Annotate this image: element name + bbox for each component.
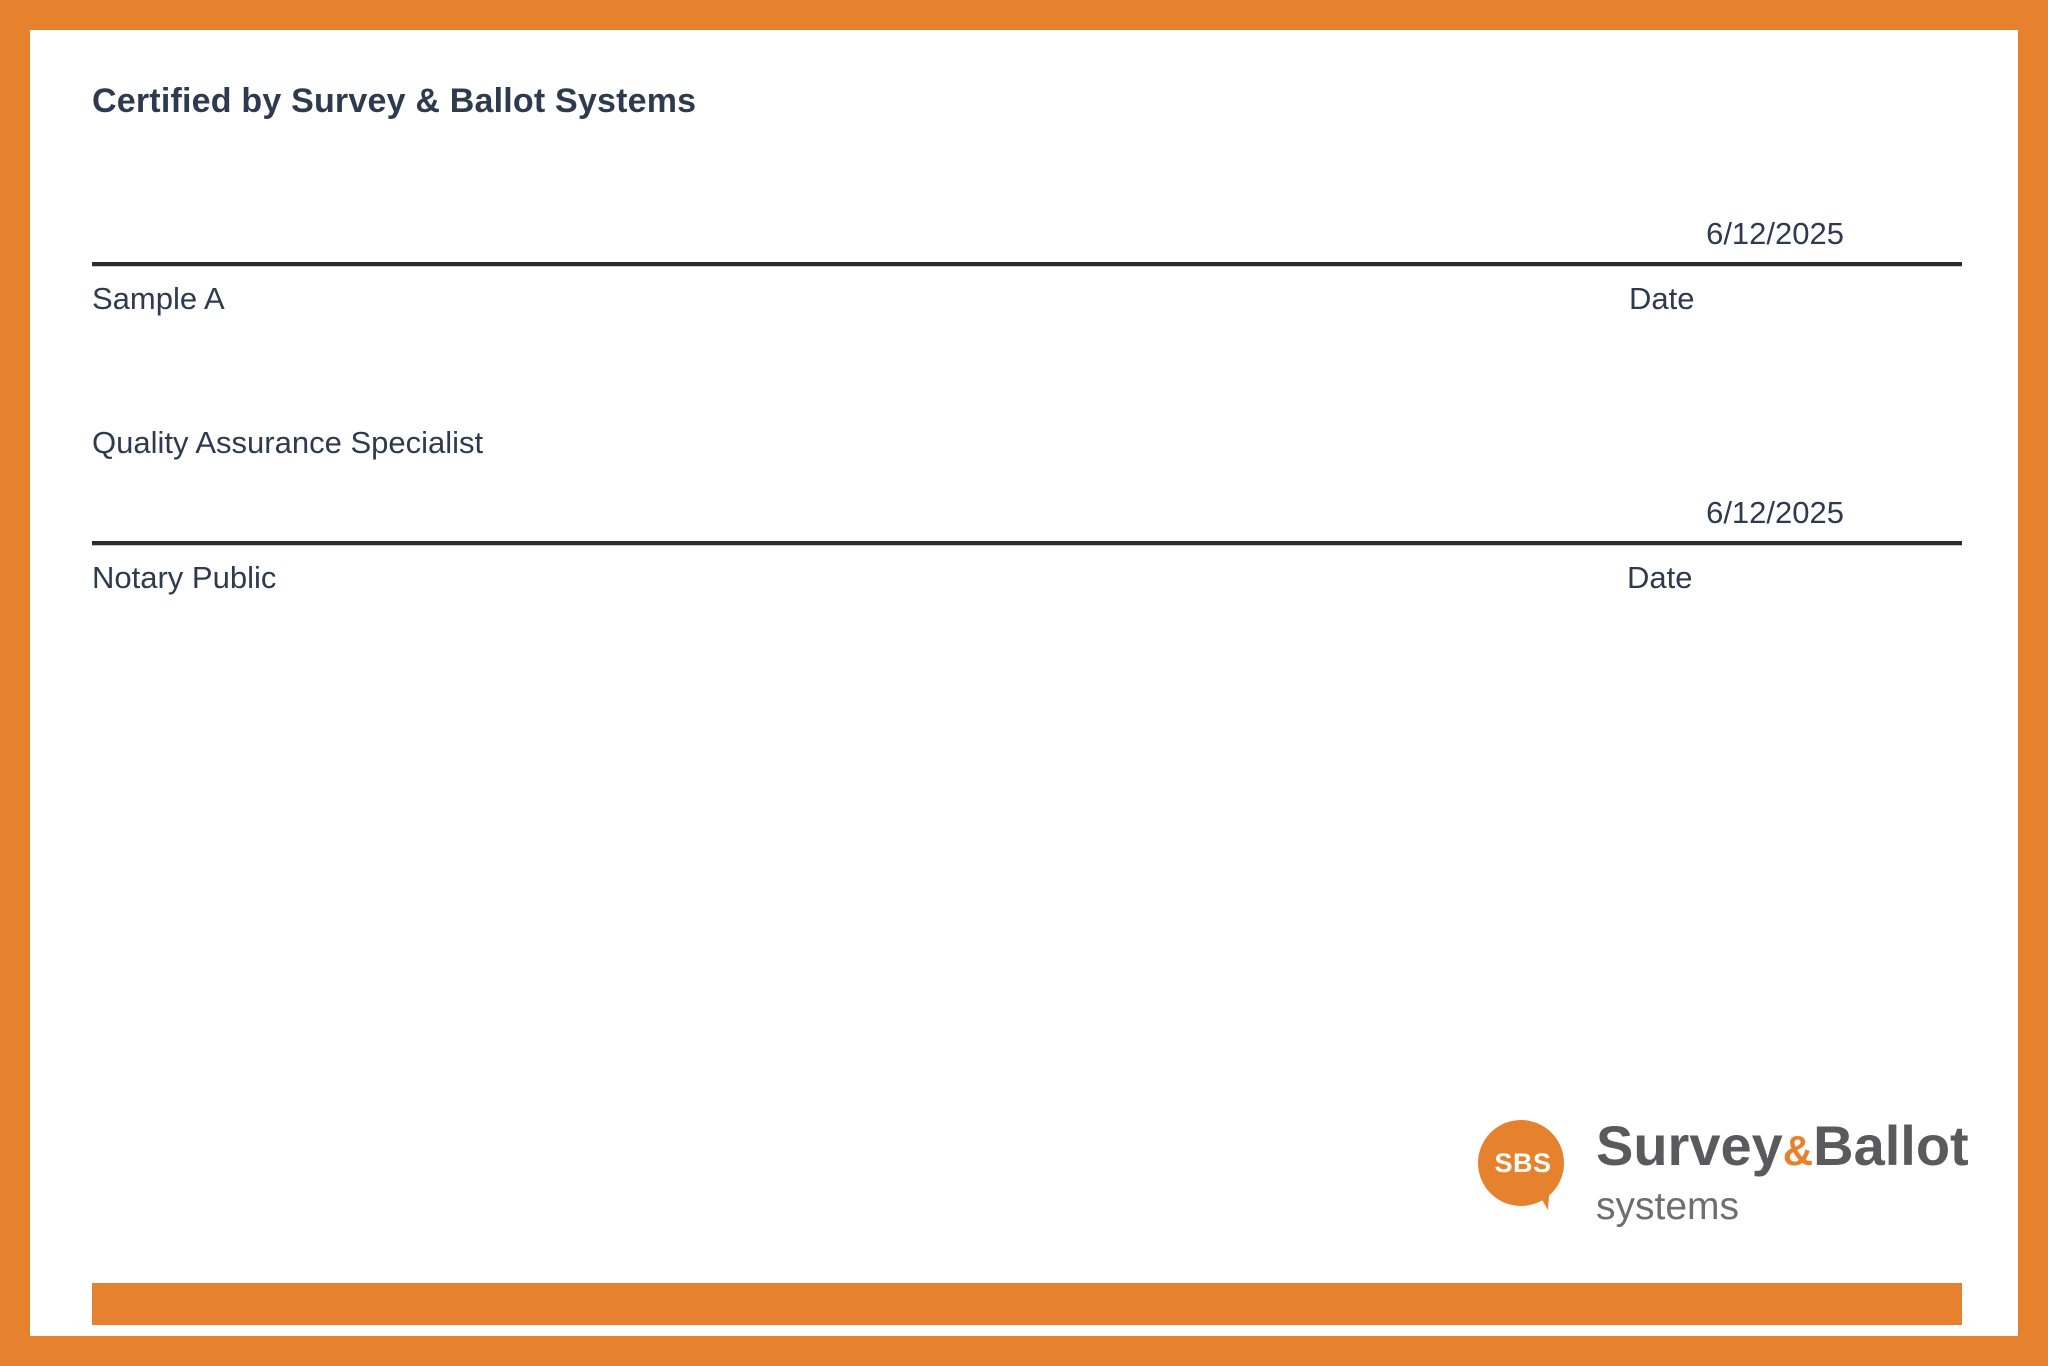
signer-title: Quality Assurance Specialist xyxy=(92,425,483,461)
signature-label-row: Sample A Date Quality Assurance Speciali… xyxy=(92,281,1962,339)
logo-wordmark-line1: Survey&Ballot xyxy=(1596,1116,1969,1181)
date-label: Date xyxy=(1627,560,1692,596)
logo-word-ampersand: & xyxy=(1783,1127,1813,1174)
signature-date-row: 6/12/2025 xyxy=(92,206,1962,262)
logo-wordmark-line2: systems xyxy=(1596,1183,1969,1231)
signature-label-row: Notary Public Date xyxy=(92,560,1962,618)
signer-name: Sample A xyxy=(92,281,225,317)
logo-wordmark: Survey&Ballot systems xyxy=(1596,1116,1969,1231)
signature-date-row: 6/12/2025 xyxy=(92,485,1962,541)
page-title: Certified by Survey & Ballot Systems xyxy=(92,82,696,121)
logo-badge-text: SBS xyxy=(1478,1120,1568,1210)
signature-date-value: 6/12/2025 xyxy=(1706,216,1844,251)
signature-date-value: 6/12/2025 xyxy=(1706,495,1844,530)
signature-block-notary: 6/12/2025 Notary Public Date xyxy=(92,485,1962,618)
footer-accent-bar xyxy=(92,1283,1962,1325)
logo-word-survey: Survey xyxy=(1596,1114,1783,1177)
logo-word-ballot: Ballot xyxy=(1813,1114,1969,1177)
certificate-page: Certified by Survey & Ballot Systems 6/1… xyxy=(0,0,2048,1366)
page-sheet: Certified by Survey & Ballot Systems 6/1… xyxy=(30,30,2018,1336)
signer-name: Notary Public xyxy=(92,560,276,596)
sbs-logo: SBS Survey&Ballot systems xyxy=(1478,1116,1978,1246)
signature-block-certifier: 6/12/2025 Sample A Date Quality Assuranc… xyxy=(92,206,1962,339)
date-label: Date xyxy=(1629,281,1694,317)
signature-rule xyxy=(92,541,1962,546)
signature-rule xyxy=(92,262,1962,267)
